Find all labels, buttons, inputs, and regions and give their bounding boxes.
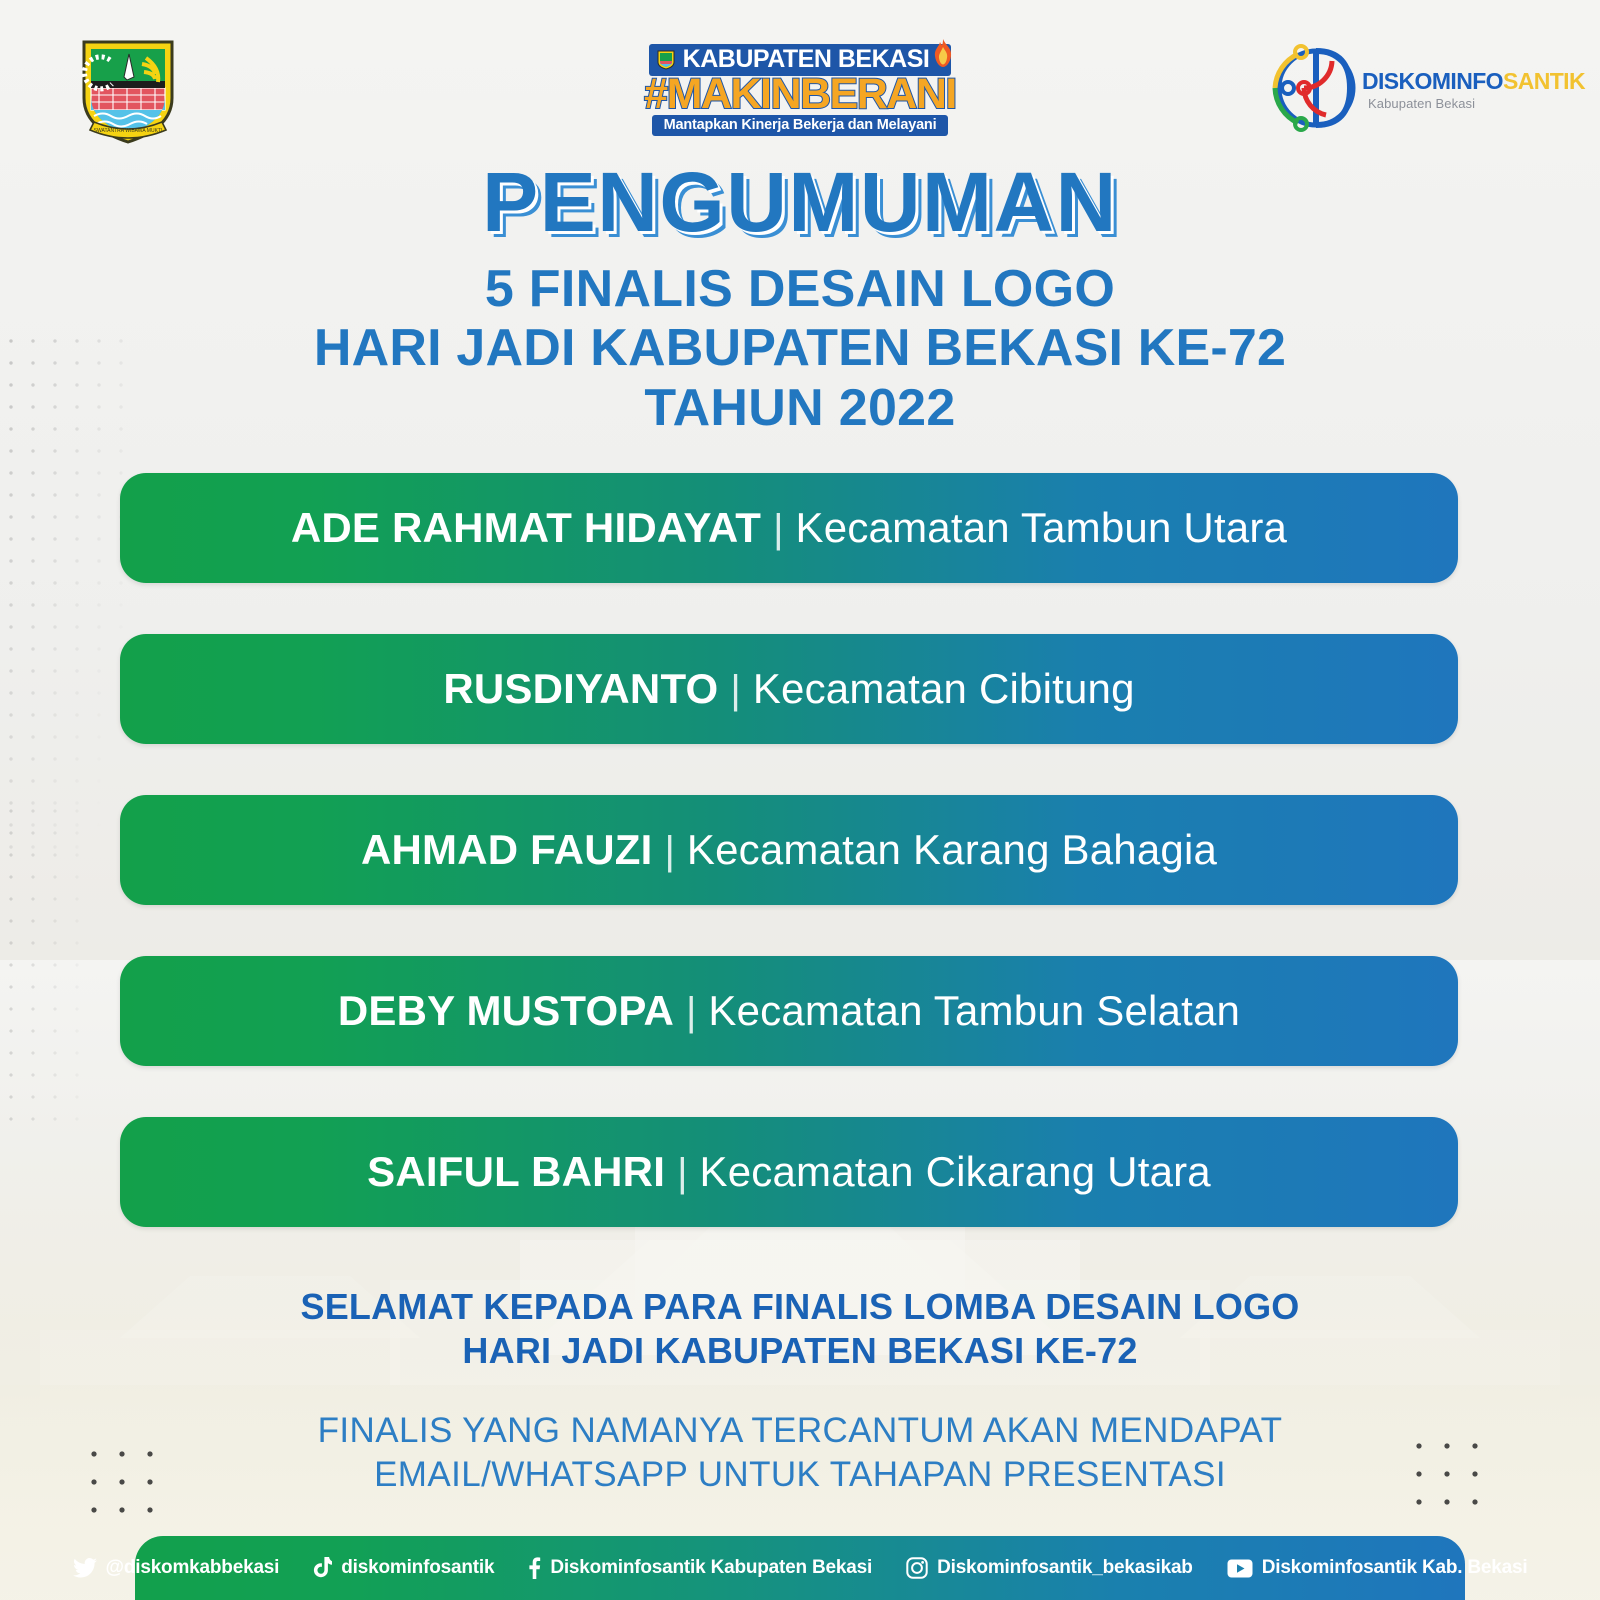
finalist-name: RUSDIYANTO (443, 665, 718, 712)
makinberani-line2: #MAKINBERANI (635, 73, 965, 116)
congrats-headline-line-1: SELAMAT KEPADA PARA FINALIS LOMBA DESAIN… (0, 1285, 1600, 1329)
title-block: PENGUMUMAN 5 FINALIS DESAIN LOGO HARI JA… (0, 160, 1600, 438)
page-subtitle: 5 FINALIS DESAIN LOGO HARI JADI KABUPATE… (0, 260, 1600, 438)
page-title: PENGUMUMAN (0, 160, 1600, 244)
finalist-row: AHMAD FAUZI|Kecamatan Karang Bahagia (120, 795, 1458, 905)
finalist-name: ADE RAHMAT HIDAYAT (291, 504, 761, 551)
social-handle: Diskominfosantik_bekasikab (937, 1557, 1193, 1579)
congrats-headline: SELAMAT KEPADA PARA FINALIS LOMBA DESAIN… (0, 1285, 1600, 1373)
finalist-district: Kecamatan Tambun Utara (796, 504, 1288, 551)
diskominfosantik-logo: DISKOMINFOSANTIK Kabupaten Bekasi (1258, 34, 1488, 142)
diskominfo-name-secondary: SANTIK (1503, 68, 1585, 94)
finalist-row: ADE RAHMAT HIDAYAT|Kecamatan Tambun Utar… (120, 473, 1458, 583)
social-handle: Diskominfosantik Kabupaten Bekasi (550, 1557, 872, 1579)
social-item-instagram[interactable]: Diskominfosantik_bekasikab (906, 1557, 1193, 1579)
finalist-row: RUSDIYANTO|Kecamatan Cibitung (120, 634, 1458, 744)
subtitle-line-1: 5 FINALIS DESAIN LOGO (0, 260, 1600, 319)
finalist-district: Kecamatan Tambun Selatan (708, 987, 1240, 1034)
finalist-separator: | (730, 668, 740, 712)
finalist-entry: RUSDIYANTO|Kecamatan Cibitung (443, 668, 1134, 710)
finalist-name: AHMAD FAUZI (361, 826, 653, 873)
finalist-name: SAIFUL BAHRI (367, 1148, 665, 1195)
finalist-separator: | (686, 990, 696, 1034)
finalist-name: DEBY MUSTOPA (338, 987, 674, 1034)
makinberani-line1: KABUPATEN BEKASI (649, 44, 952, 76)
finalist-entry: DEBY MUSTOPA|Kecamatan Tambun Selatan (338, 990, 1240, 1032)
social-footer: @diskomkabbekasi diskominfosantik Diskom… (135, 1536, 1465, 1600)
subtitle-line-2: HARI JADI KABUPATEN BEKASI KE-72 (0, 319, 1600, 378)
svg-text:SWATANTRA WIBAWA MUKTI: SWATANTRA WIBAWA MUKTI (94, 128, 163, 134)
finalist-row: DEBY MUSTOPA|Kecamatan Tambun Selatan (120, 956, 1458, 1066)
diskominfo-name-primary: DISKOMINFO (1362, 68, 1503, 94)
twitter-icon (73, 1558, 97, 1578)
finalist-entry: ADE RAHMAT HIDAYAT|Kecamatan Tambun Utar… (291, 507, 1287, 549)
finalist-separator: | (664, 829, 674, 873)
congrats-note-line-1: FINALIS YANG NAMANYA TERCANTUM AKAN MEND… (0, 1409, 1600, 1453)
finalist-separator: | (677, 1151, 687, 1195)
finalist-list: ADE RAHMAT HIDAYAT|Kecamatan Tambun Utar… (120, 473, 1458, 1227)
youtube-icon (1227, 1559, 1253, 1578)
halftone-dots-left-lower (0, 800, 110, 1130)
header: SWATANTRA WIBAWA MUKTI KABUPATEN BEKASI … (0, 0, 1600, 160)
diskominfo-wordmark: DISKOMINFOSANTIK (1362, 70, 1585, 93)
social-item-tiktok[interactable]: diskominfosantik (313, 1557, 494, 1579)
flame-icon (931, 38, 955, 68)
social-handle: diskominfosantik (341, 1557, 494, 1579)
facebook-icon (528, 1557, 541, 1579)
makinberani-line1-text: KABUPATEN BEKASI (683, 45, 930, 73)
social-item-youtube[interactable]: Diskominfosantik Kab. Bekasi (1227, 1557, 1528, 1579)
finalist-row: SAIFUL BAHRI|Kecamatan Cikarang Utara (120, 1117, 1458, 1227)
congratulations-block: SELAMAT KEPADA PARA FINALIS LOMBA DESAIN… (0, 1285, 1600, 1496)
finalist-entry: AHMAD FAUZI|Kecamatan Karang Bahagia (361, 829, 1217, 871)
makinberani-line3: Mantapkan Kinerja Bekerja dan Melayani (652, 115, 949, 136)
tiktok-icon (313, 1557, 332, 1579)
diskominfo-subtitle: Kabupaten Bekasi (1368, 96, 1475, 111)
finalist-district: Kecamatan Cikarang Utara (699, 1148, 1210, 1195)
finalist-district: Kecamatan Cibitung (753, 665, 1135, 712)
congrats-note-line-2: EMAIL/WHATSAPP UNTUK TAHAPAN PRESENTASI (0, 1453, 1600, 1497)
instagram-icon (906, 1557, 928, 1579)
finalist-entry: SAIFUL BAHRI|Kecamatan Cikarang Utara (367, 1151, 1211, 1193)
congrats-note: FINALIS YANG NAMANYA TERCANTUM AKAN MEND… (0, 1409, 1600, 1497)
social-item-facebook[interactable]: Diskominfosantik Kabupaten Bekasi (528, 1557, 872, 1579)
congrats-headline-line-2: HARI JADI KABUPATEN BEKASI KE-72 (0, 1329, 1600, 1373)
social-handle: Diskominfosantik Kab. Bekasi (1262, 1557, 1528, 1579)
social-item-twitter[interactable]: @diskomkabbekasi (73, 1557, 280, 1579)
bekasi-coat-of-arms-icon: SWATANTRA WIBAWA MUKTI (72, 36, 184, 146)
makinberani-logo: KABUPATEN BEKASI #MAKINBERANI Mantapkan … (635, 44, 965, 136)
social-handle: @diskomkabbekasi (106, 1557, 280, 1579)
finalist-district: Kecamatan Karang Bahagia (687, 826, 1217, 873)
finalist-separator: | (773, 507, 783, 551)
mini-crest-icon (657, 50, 675, 70)
subtitle-line-3: TAHUN 2022 (0, 379, 1600, 438)
